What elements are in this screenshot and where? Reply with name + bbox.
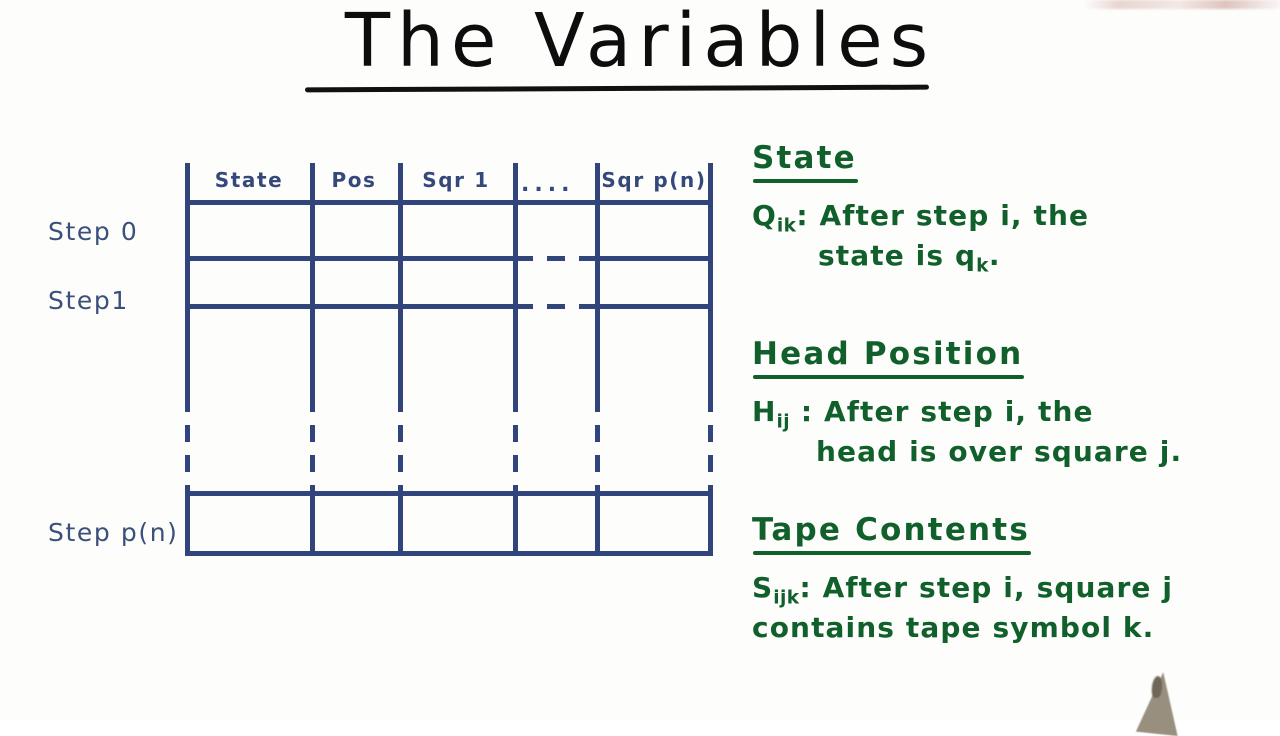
table-hline-step0-right [595, 256, 713, 261]
definition-tape-contents-line1: Sijk: After step i, square j [752, 570, 1173, 610]
table-hline-header [185, 200, 713, 205]
table-vline-3-top [513, 163, 518, 395]
table-hline-steppn-top [185, 491, 713, 496]
definition-head-position-line2: head is over square j. [752, 434, 1182, 470]
definition-state-symbol: Q [752, 199, 777, 232]
table-vline-2-bottom [398, 487, 403, 555]
table-row-label-steppn: Step p(n) [48, 518, 179, 547]
definition-state-heading: State [752, 140, 857, 176]
definition-tape-contents-symbol: S [752, 571, 773, 604]
table-vline-1-top [310, 163, 315, 395]
table-hline-step1-right [595, 304, 713, 309]
table-hline-bottom [185, 551, 713, 556]
table-column-header-sqrpn: Sqr p(n) [600, 168, 708, 192]
table-hline-step0-dashed [515, 256, 595, 261]
definition-tape-contents: Tape Contents Sijk: After step i, square… [752, 512, 1173, 646]
table-vline-3-dashed [513, 395, 518, 487]
definition-state-heading-text: State [752, 140, 857, 176]
table-vline-0-top [185, 163, 190, 395]
definition-tape-contents-line2: contains tape symbol k. [752, 610, 1173, 646]
table-vline-0-dashed [185, 395, 190, 487]
variables-table: State Pos Sqr 1 .... Sqr p(n) Step 0 Ste… [0, 0, 760, 720]
definition-head-position-heading: Head Position [752, 336, 1023, 372]
table-vline-5-top [708, 163, 713, 395]
definition-tape-contents-line1-text: : After step i, square j [799, 571, 1173, 604]
definition-state-line2-subscript: k [976, 256, 989, 277]
definition-head-position-line1-text: : After step i, the [790, 395, 1094, 428]
table-vline-4-dashed [595, 395, 600, 487]
table-vline-3-bottom [513, 487, 518, 555]
table-vline-1-dashed [310, 395, 315, 487]
definition-tape-contents-heading-text: Tape Contents [752, 512, 1030, 548]
table-hline-step1-dashed [515, 304, 595, 309]
definition-state: State Qik: After step i, the state is qk… [752, 140, 1089, 279]
table-column-header-pos: Pos [314, 168, 394, 192]
table-vline-1-bottom [310, 487, 315, 555]
table-column-header-state: State [190, 168, 308, 192]
definition-tape-contents-subscript: ijk [773, 588, 799, 609]
table-vline-2-dashed [398, 395, 403, 487]
definition-state-line1: Qik: After step i, the [752, 198, 1089, 238]
definition-state-line2-end: . [989, 239, 1001, 272]
definition-head-position-line1: Hij : After step i, the [752, 394, 1182, 434]
definition-state-line1-text: : After step i, the [796, 199, 1089, 232]
table-vline-5-dashed [708, 395, 713, 487]
table-vline-2-top [398, 163, 403, 395]
table-column-header-ellipsis: .... [521, 172, 574, 197]
table-column-header-sqr1: Sqr 1 [402, 168, 510, 192]
definition-state-line2: state is qk. [752, 238, 1089, 278]
definition-head-position-line2-text: head is over square j. [816, 435, 1182, 468]
definition-state-underline [753, 179, 858, 183]
table-row-label-step1: Step1 [48, 286, 129, 315]
table-vline-4-top [595, 163, 600, 395]
table-hline-step1-left [185, 304, 515, 309]
table-row-label-step0: Step 0 [48, 217, 138, 246]
definition-tape-contents-underline [753, 551, 1031, 555]
definition-tape-contents-heading: Tape Contents [752, 512, 1030, 548]
table-vline-5-bottom [708, 487, 713, 555]
definition-head-position-underline [753, 375, 1024, 379]
definition-state-line2-text: state is q [818, 239, 976, 272]
definition-state-subscript: ik [777, 216, 796, 237]
definition-head-position-heading-text: Head Position [752, 336, 1023, 372]
table-vline-4-bottom [595, 487, 600, 555]
table-vline-0-bottom [185, 487, 190, 555]
definition-head-position-symbol: H [752, 395, 777, 428]
table-hline-step0-left [185, 256, 515, 261]
whiteboard-canvas: The Variables State Pos Sqr 1 .... Sqr p… [0, 0, 1280, 720]
definition-head-position: Head Position Hij : After step i, the he… [752, 336, 1182, 470]
definition-head-position-subscript: ij [777, 412, 790, 433]
definition-tape-contents-line2-text: contains tape symbol k. [752, 611, 1154, 644]
